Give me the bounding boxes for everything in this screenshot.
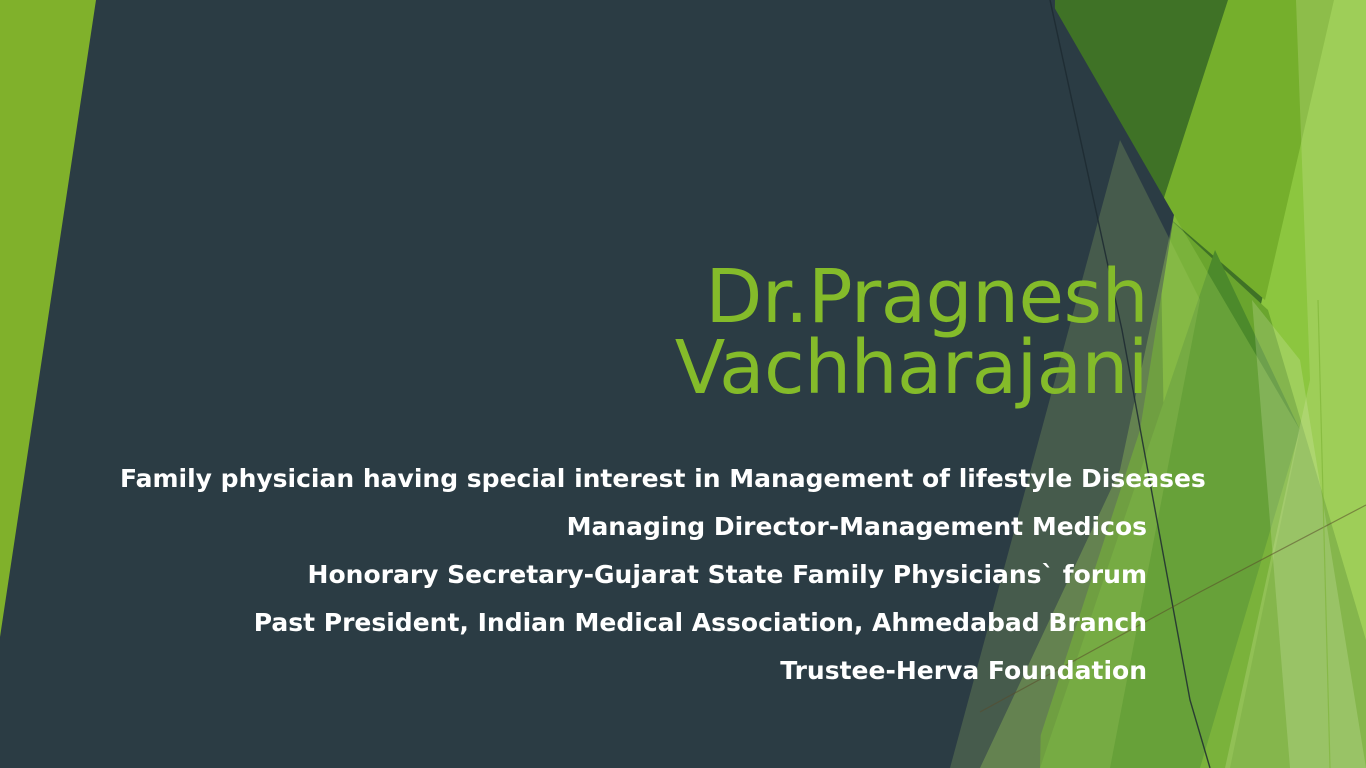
title-slide: Dr.Pragnesh Vachharajani Family physicia… (0, 0, 1366, 768)
title-line-2: Vachharajani (200, 333, 1148, 404)
subtitle-line-1: Family physician having special interest… (120, 455, 1147, 503)
title-line-1: Dr.Pragnesh (200, 262, 1148, 333)
slide-content: Dr.Pragnesh Vachharajani Family physicia… (0, 0, 1366, 768)
subtitle-line-5: Trustee-Herva Foundation (120, 647, 1147, 695)
slide-title: Dr.Pragnesh Vachharajani (200, 262, 1148, 404)
subtitle-line-4: Past President, Indian Medical Associati… (120, 599, 1147, 647)
subtitle-line-2: Managing Director-Management Medicos (120, 503, 1147, 551)
slide-subtitle: Family physician having special interest… (120, 455, 1147, 695)
subtitle-line-3: Honorary Secretary-Gujarat State Family … (120, 551, 1147, 599)
